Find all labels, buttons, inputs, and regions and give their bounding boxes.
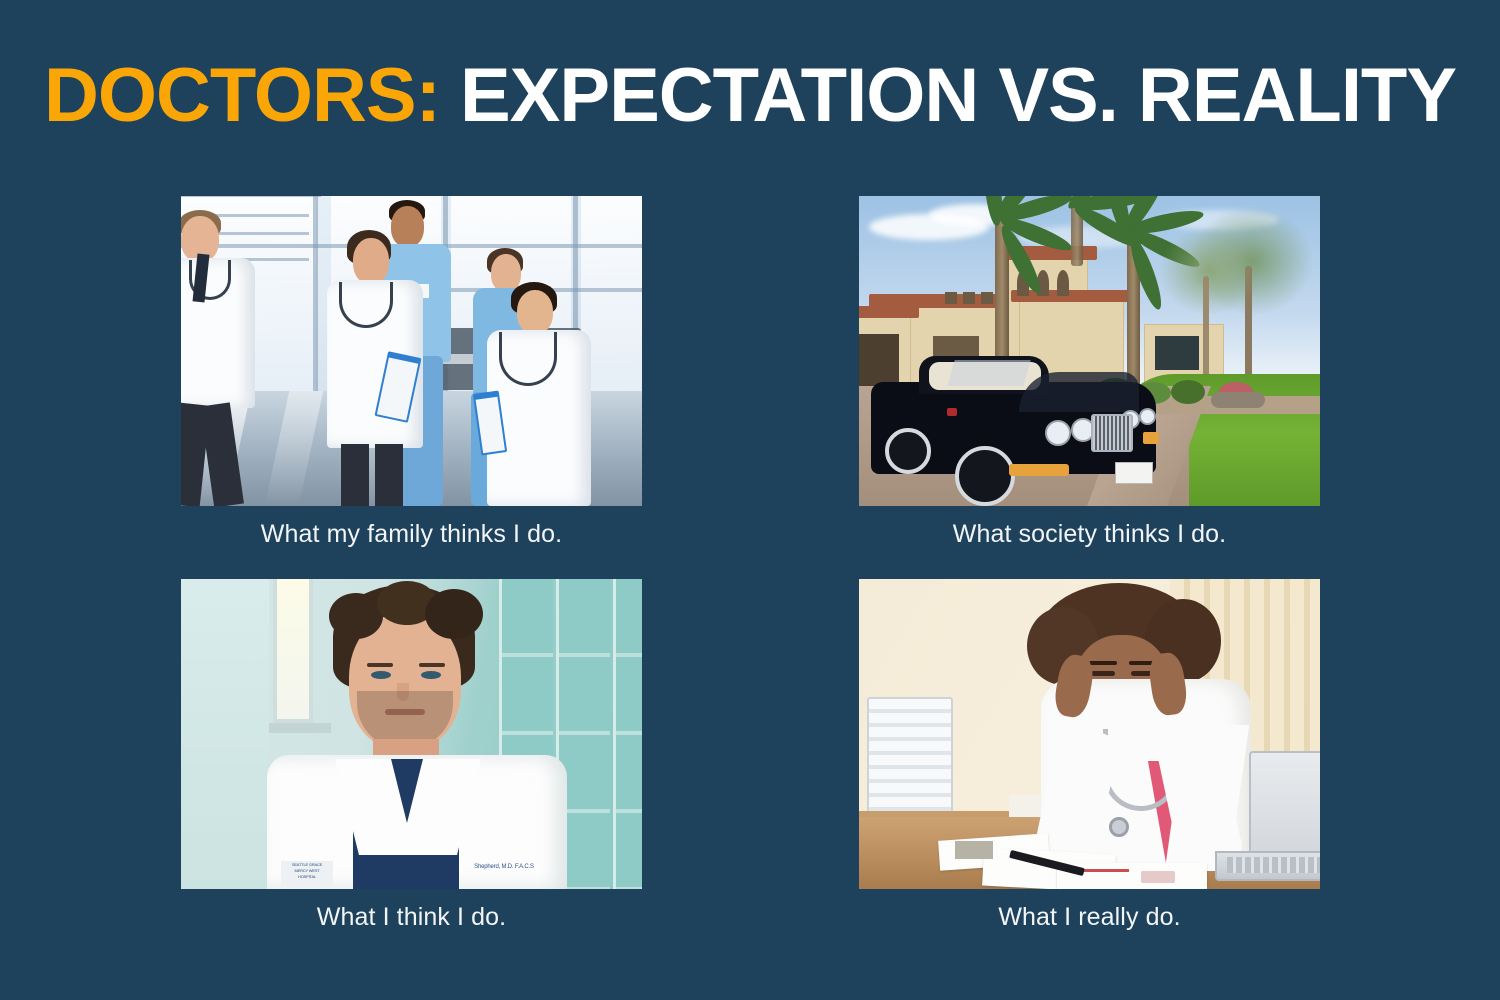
panel-society: What society thinks I do.	[859, 196, 1320, 549]
photo-hospital-team-running	[181, 196, 642, 506]
panel-caption: What I really do.	[859, 902, 1320, 932]
laptop-screen	[1249, 751, 1320, 863]
title-accent-text: DOCTORS:	[44, 53, 440, 138]
panel-caption: What I think I do.	[181, 902, 642, 932]
coat-embroidery: Shepherd, M.D. F.A.C.S	[473, 863, 535, 881]
panel-reality: What I really do.	[859, 579, 1320, 932]
panel-self: SEATTLE GRACEMERCY WESTHOSPITAL Shepherd…	[181, 579, 642, 932]
photo-mansion-luxury-car	[859, 196, 1320, 506]
photo-stressed-doctor-desk	[859, 579, 1320, 889]
panel-caption: What my family thinks I do.	[181, 519, 642, 549]
panel-caption: What society thinks I do.	[859, 519, 1320, 549]
panel-family: What my family thinks I do.	[181, 196, 642, 549]
hospital-id-badge: SEATTLE GRACEMERCY WESTHOSPITAL	[281, 861, 333, 887]
title-main-text: EXPECTATION VS. REALITY	[440, 53, 1456, 138]
page-title: DOCTORS: EXPECTATION VS. REALITY	[0, 58, 1500, 134]
paper-tray	[867, 697, 953, 815]
photo-tv-doctor-portrait: SEATTLE GRACEMERCY WESTHOSPITAL Shepherd…	[181, 579, 642, 889]
meme-grid: What my family thinks I do.	[181, 196, 1320, 956]
